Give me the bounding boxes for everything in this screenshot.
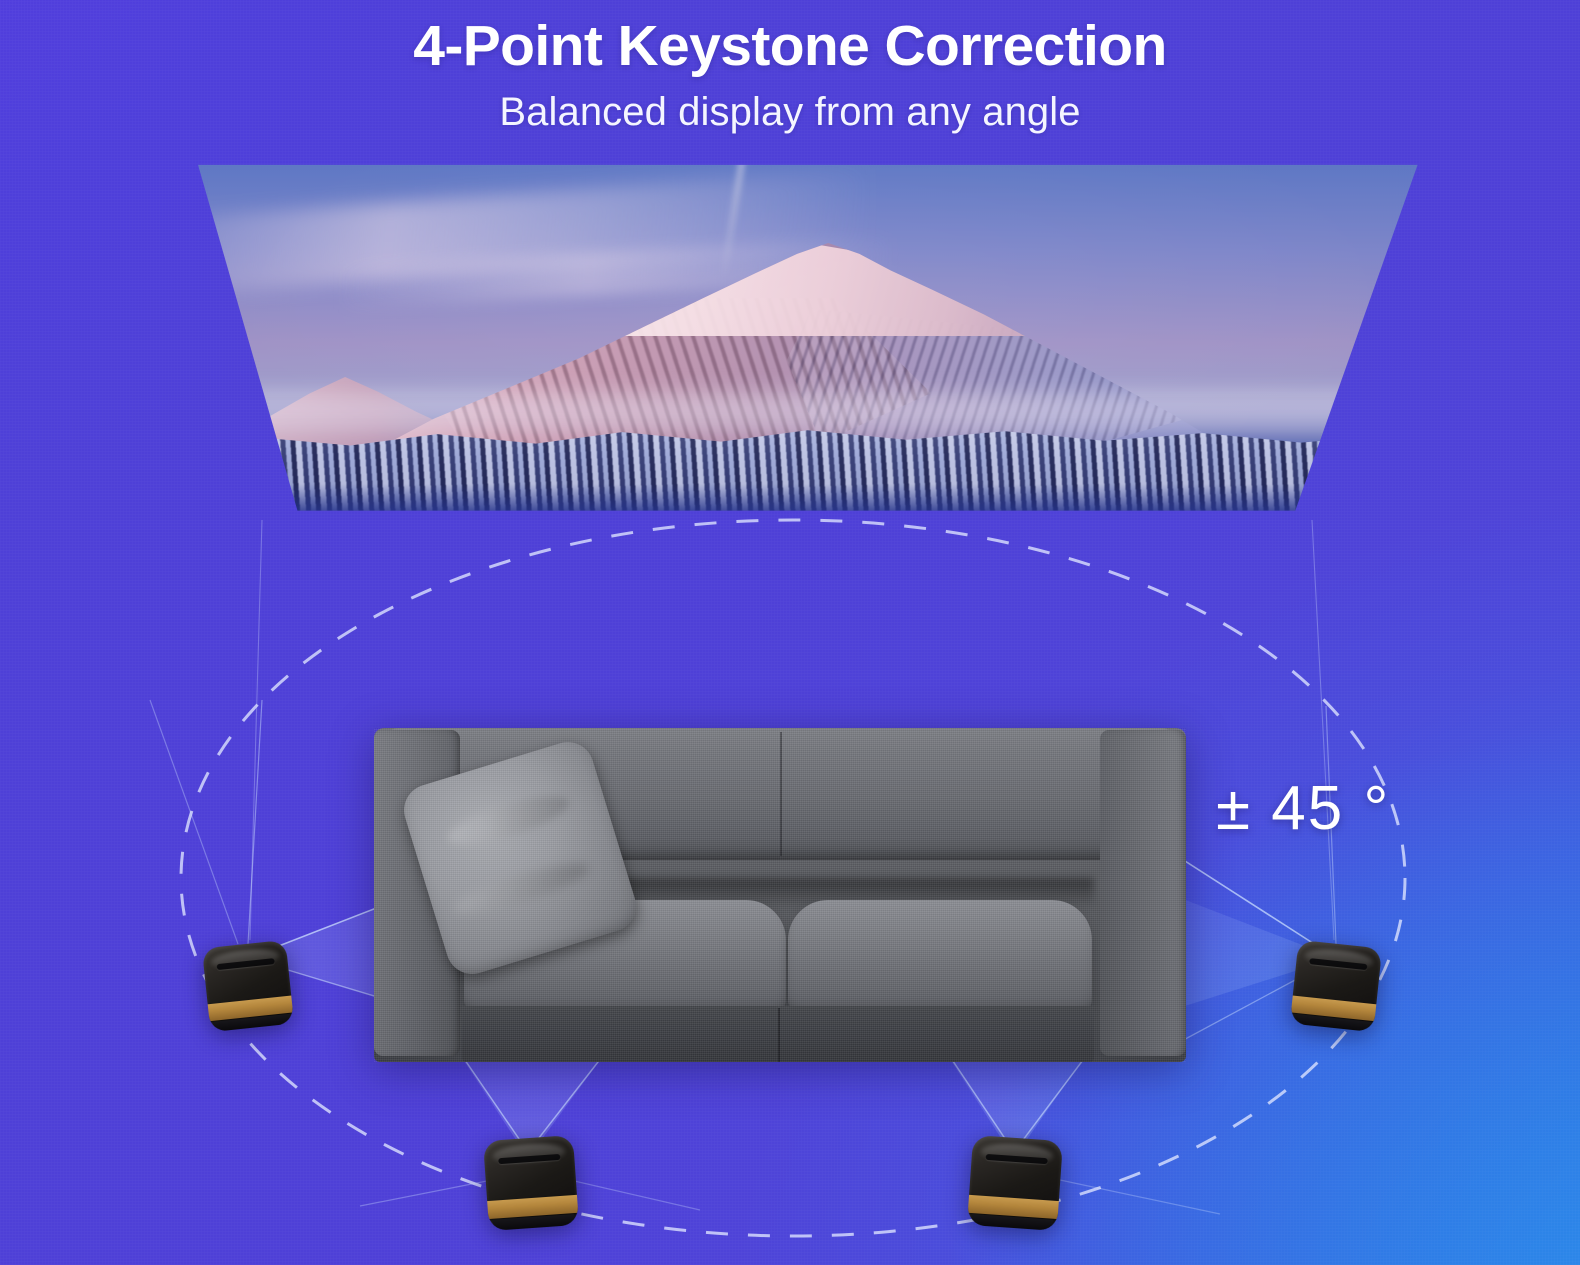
sofa-icon: [374, 728, 1186, 1062]
base-seam: [778, 1008, 780, 1062]
projector-bottom-right[interactable]: [967, 1135, 1063, 1231]
seat-cushion-right: [788, 900, 1092, 1012]
projector-bottom-left[interactable]: [483, 1135, 579, 1231]
page-subtitle: Balanced display from any angle: [0, 90, 1580, 134]
pillow-crease-2: [450, 855, 593, 922]
angle-range-label: ± 45 °: [1216, 778, 1390, 840]
background-texture-overlay: [0, 0, 1580, 1265]
pillow-crease-1: [444, 787, 573, 854]
projector-icon: [1290, 940, 1382, 1032]
heading-block: 4-Point Keystone Correction Balanced dis…: [0, 16, 1580, 134]
projector-icon: [202, 940, 294, 1032]
sofa-base: [462, 1006, 1094, 1062]
backrest-seam: [780, 732, 782, 856]
page-title: 4-Point Keystone Correction: [0, 16, 1580, 76]
promo-banner: 4-Point Keystone Correction Balanced dis…: [0, 0, 1580, 1265]
projector-top-right[interactable]: [1290, 940, 1382, 1032]
projector-top-left[interactable]: [202, 940, 294, 1032]
sofa-armrest-right: [1100, 730, 1186, 1056]
projector-icon: [967, 1135, 1063, 1231]
projector-icon: [483, 1135, 579, 1231]
